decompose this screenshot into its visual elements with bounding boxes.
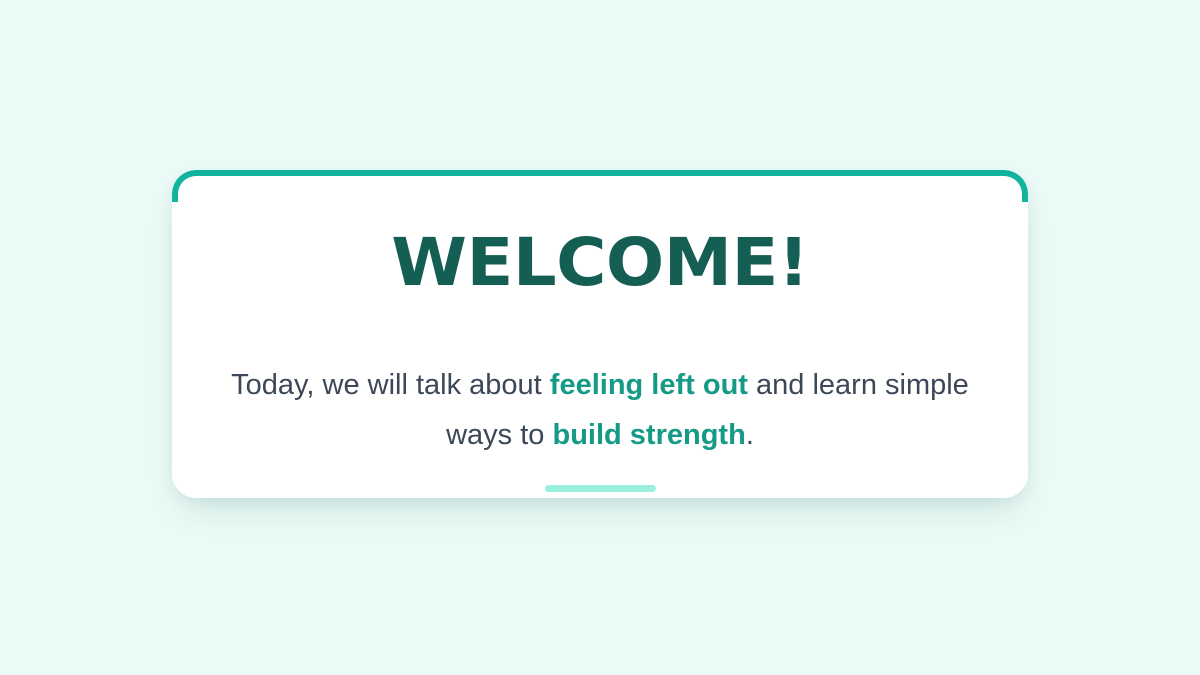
page-title: WELCOME! [172,228,1028,298]
subtitle-segment-3: . [746,419,754,451]
subtitle-highlight-build-strength: build strength [552,419,745,451]
subtitle-segment-1: Today, we will talk about [231,369,550,401]
subtitle-text: Today, we will talk about feeling left o… [220,360,980,460]
welcome-card: WELCOME! Today, we will talk about feeli… [172,170,1028,498]
card-content: WELCOME! Today, we will talk about feeli… [172,170,1028,498]
subtitle-highlight-feeling-left-out: feeling left out [550,369,748,401]
slide-canvas: WELCOME! Today, we will talk about feeli… [0,0,1200,675]
title-divider [545,485,656,492]
